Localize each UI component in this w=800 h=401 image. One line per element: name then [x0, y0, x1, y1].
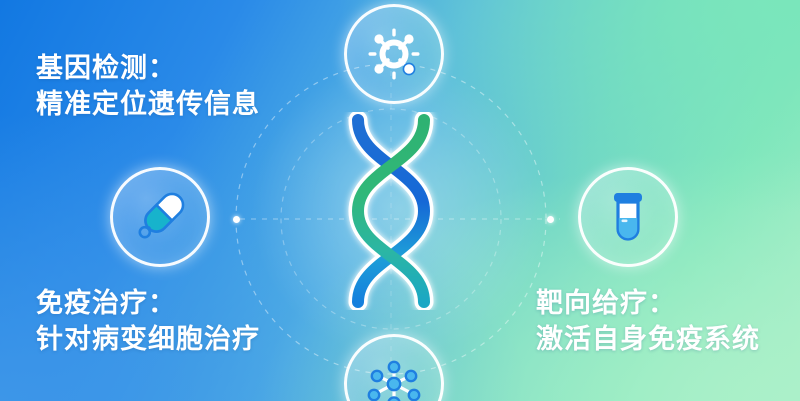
capsule-pill-icon-badge[interactable] [110, 167, 210, 267]
label-immunotherapy: 免疫治疗： 针对病变细胞治疗 [36, 285, 260, 357]
connector-dot-left [233, 216, 240, 223]
test-tube-icon-badge[interactable] [578, 167, 678, 267]
label-targeted-therapy-title: 靶向给疗： [536, 285, 760, 321]
virus-molecule-icon-badge[interactable] [344, 4, 444, 104]
label-gene-test-title: 基因检测： [36, 50, 260, 86]
capsule-pill-icon [132, 189, 188, 245]
label-gene-test-description: 精准定位遗传信息 [36, 86, 260, 122]
molecule-network-icon-badge[interactable] [344, 334, 444, 401]
connector-dot-right [547, 216, 554, 223]
label-immunotherapy-title: 免疫治疗： [36, 285, 260, 321]
label-targeted-therapy-description: 激活自身免疫系统 [536, 321, 760, 357]
test-tube-icon [600, 189, 656, 245]
label-targeted-therapy: 靶向给疗： 激活自身免疫系统 [536, 285, 760, 357]
poster-canvas: 基因检测： 精准定位遗传信息 免疫治疗： 针对病变细胞治疗 靶向给疗： 激活自身… [0, 0, 800, 401]
label-immunotherapy-description: 针对病变细胞治疗 [36, 321, 260, 357]
label-gene-test: 基因检测： 精准定位遗传信息 [36, 50, 260, 122]
virus-molecule-icon [366, 26, 422, 82]
dna-double-helix [330, 112, 452, 310]
molecule-network-icon [366, 356, 422, 401]
